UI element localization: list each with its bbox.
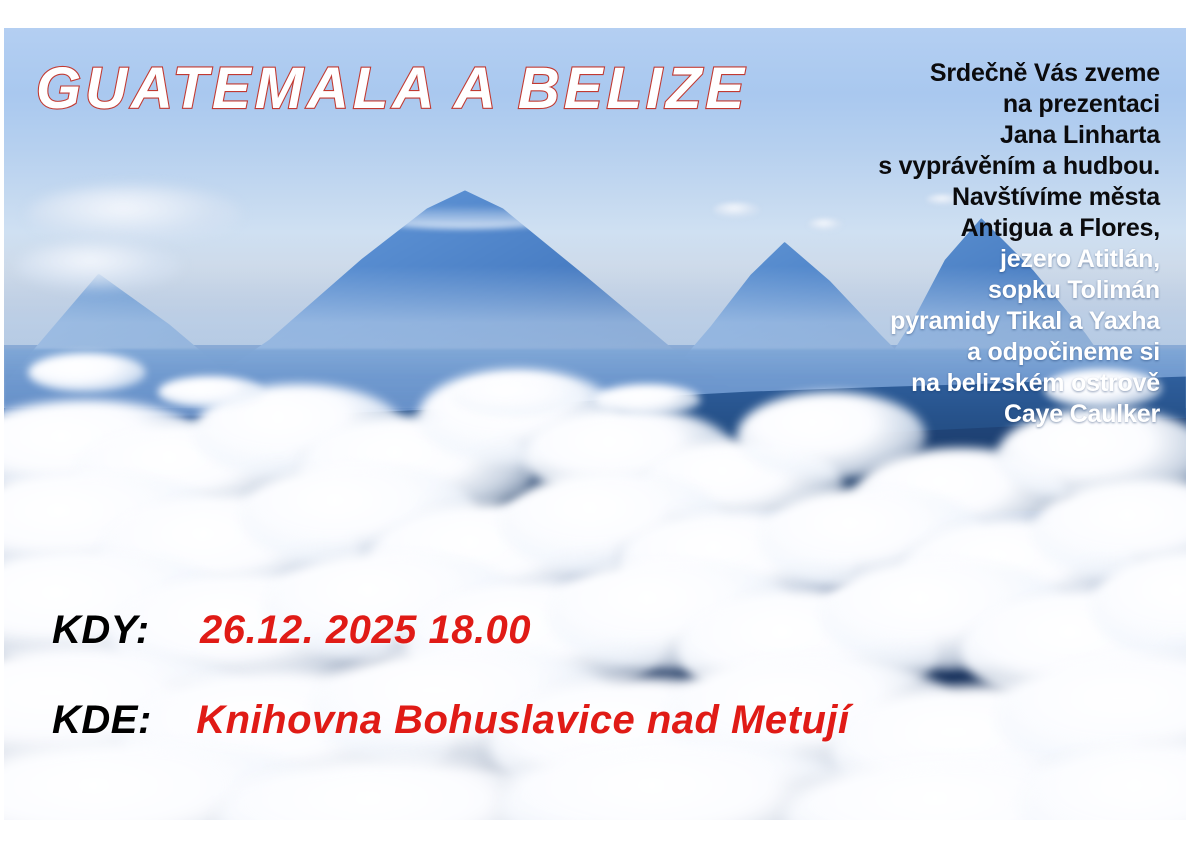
page-title: GUATEMALA A BELIZE <box>36 55 748 122</box>
invitation-line: jezero Atitlán, <box>740 244 1160 275</box>
invitation-line: Jana Linharta <box>740 120 1160 151</box>
poster-canvas: GUATEMALA A BELIZE Srdečně Vás zveme na … <box>0 0 1200 848</box>
when-row: KDY: 26.12. 2025 18.00 <box>52 608 531 653</box>
invitation-line: Navštívíme města <box>740 182 1160 213</box>
when-value: 26.12. 2025 18.00 <box>200 608 531 653</box>
where-row: KDE: Knihovna Bohuslavice nad Metují <box>52 698 850 743</box>
invitation-line: Srdečně Vás zveme <box>740 58 1160 89</box>
invitation-line: na belizském ostrově <box>740 368 1160 399</box>
invitation-line: a odpočineme si <box>740 337 1160 368</box>
where-label: KDE: <box>52 698 152 743</box>
when-label: KDY: <box>52 608 150 653</box>
invitation-line: Antigua a Flores, <box>740 213 1160 244</box>
invitation-text-block: Srdečně Vás zveme na prezentaci Jana Lin… <box>740 58 1160 430</box>
invitation-line: sopku Tolimán <box>740 275 1160 306</box>
invitation-line: na prezentaci <box>740 89 1160 120</box>
invitation-line: pyramidy Tikal a Yaxha <box>740 306 1160 337</box>
where-value: Knihovna Bohuslavice nad Metují <box>196 698 849 743</box>
invitation-line: s vyprávěním a hudbou. <box>740 151 1160 182</box>
invitation-line: Caye Caulker <box>740 399 1160 430</box>
